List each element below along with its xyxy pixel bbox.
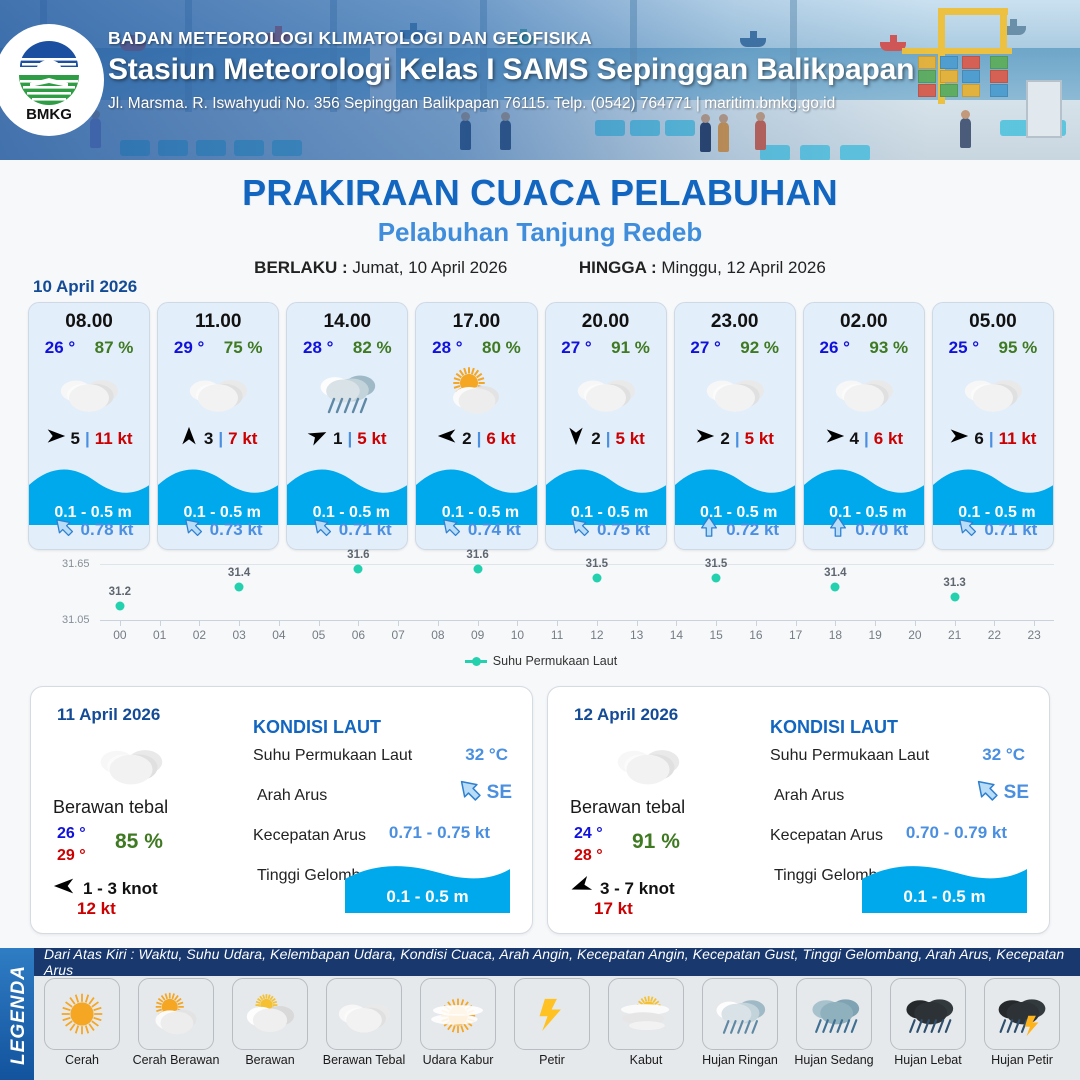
chart-xtick-label: 09 [471, 628, 484, 642]
petir-icon [514, 978, 590, 1050]
chart-xtick [756, 620, 757, 626]
hujan-ringan-icon [702, 978, 778, 1050]
udara-kabur-icon [420, 978, 496, 1050]
chart-xtick [955, 620, 956, 626]
chart-xtick [358, 620, 359, 626]
wind-direction-arrow-icon [949, 426, 969, 451]
legend-item: Hujan Petir [978, 978, 1066, 1078]
chart-ytick-label: 31.65 [62, 558, 90, 570]
current-direction-arrow-icon [182, 516, 204, 543]
valid-until-label: HINGGA : [579, 258, 657, 277]
chart-point-label: 31.6 [466, 549, 488, 561]
wind-speed: 4 [850, 429, 859, 449]
legend-footer: LEGENDA Dari Atas Kiri : Waktu, Suhu Uda… [0, 948, 1080, 1080]
chart-xtick-label: 08 [431, 628, 444, 642]
chart-point-label: 31.2 [109, 586, 131, 598]
hourly-card: 02.0026 °93 %4|6 kt0.1 - 0.5 m0.70 kt [803, 302, 925, 550]
current-speed: 0.70 kt [855, 520, 908, 540]
valid-from-label: BERLAKU : [254, 258, 348, 277]
current-direction-value: SE [1004, 782, 1029, 804]
chart-x-axis [100, 620, 1054, 621]
hujan-sedang-icon [796, 978, 872, 1050]
hourly-card: 20.0027 °91 %2|5 kt0.1 - 0.5 m0.75 kt [545, 302, 667, 550]
separator: | [864, 429, 869, 449]
wave-band: 0.1 - 0.5 m0.74 kt [416, 455, 537, 549]
gust-speed: 5 kt [616, 429, 645, 449]
chart-legend: Suhu Permukaan Laut [28, 654, 1054, 668]
chart-xtick [279, 620, 280, 626]
wind-direction-arrow-icon [695, 426, 715, 451]
chart-xtick-label: 14 [670, 628, 683, 642]
current-direction-value: SE [487, 782, 512, 804]
card-time: 02.00 [804, 311, 924, 333]
legend-item-label: Hujan Ringan [702, 1054, 778, 1068]
hourly-card: 17.0028 °80 %2|6 kt0.1 - 0.5 m0.74 kt [415, 302, 537, 550]
berawan-tebal-icon [83, 733, 179, 791]
chart-xtick [557, 620, 558, 626]
page-header: BMKG BADAN METEOROLOGI KLIMATOLOGI DAN G… [0, 0, 1080, 160]
chart-xtick-label: 06 [352, 628, 365, 642]
separator: | [606, 429, 611, 449]
chart-xtick [398, 620, 399, 626]
current-speed: 0.73 kt [210, 520, 263, 540]
station-name: Stasiun Meteorologi Kelas I SAMS Sepingg… [108, 53, 988, 87]
chart-xtick [796, 620, 797, 626]
legend-item-label: Udara Kabur [423, 1054, 494, 1068]
wave-band: 0.1 - 0.5 m0.71 kt [287, 455, 408, 549]
chart-point [712, 574, 721, 583]
hourly-card: 08.0026 °87 %5|11 kt0.1 - 0.5 m0.78 kt [28, 302, 150, 550]
bmkg-logo-icon: BMKG [10, 37, 88, 123]
card-humidity: 92 % [740, 338, 779, 358]
gust-speed: 11 kt [95, 429, 133, 449]
hourly-card: 05.0025 °95 %6|11 kt0.1 - 0.5 m0.71 kt [932, 302, 1054, 550]
card-temperature: 27 ° [561, 338, 591, 358]
valid-until-value: Minggu, 12 April 2026 [661, 258, 825, 277]
wind-direction-arrow-icon [179, 426, 199, 451]
chart-point [235, 583, 244, 592]
card-humidity: 93 % [869, 338, 908, 358]
wave-band: 0.1 - 0.5 m0.72 kt [675, 455, 796, 549]
daily-forecast-panels: 11 April 2026Berawan tebal26 °29 °85 %1 … [30, 686, 1050, 934]
current-direction-value-group: SE [974, 777, 1029, 808]
current-speed: 0.78 kt [81, 520, 134, 540]
chart-xtick-label: 12 [590, 628, 603, 642]
chart-xtick-label: 01 [153, 628, 166, 642]
daily-humidity: 91 % [632, 830, 680, 854]
wave-band: 0.1 - 0.5 m0.73 kt [158, 455, 279, 549]
gust-speed: 11 kt [999, 429, 1037, 449]
sst-value: 32 °C [982, 745, 1025, 765]
wind-speed: 2 [591, 429, 600, 449]
gust-speed: 7 kt [228, 429, 257, 449]
legend-item: Kabut [602, 978, 690, 1078]
chart-point-label: 31.3 [943, 577, 965, 589]
wind-direction-arrow-icon [566, 426, 586, 451]
card-temperature: 25 ° [949, 338, 979, 358]
chart-point-label: 31.4 [228, 567, 250, 579]
separator: | [989, 429, 994, 449]
chart-xtick-label: 22 [988, 628, 1001, 642]
chart-point [831, 583, 840, 592]
kabut-icon [608, 978, 684, 1050]
separator: | [735, 429, 740, 449]
card-temperature: 27 ° [690, 338, 720, 358]
chart-point [592, 574, 601, 583]
chart-point [950, 592, 959, 601]
chart-point-label: 31.4 [824, 567, 846, 579]
daily-forecast-panel: 12 April 2026Berawan tebal24 °28 °91 %3 … [547, 686, 1050, 934]
legend-item-label: Hujan Petir [991, 1054, 1053, 1068]
cerah-berawan-icon [138, 978, 214, 1050]
legend-item-label: Berawan [245, 1054, 294, 1068]
legend-item: Hujan Lebat [884, 978, 972, 1078]
legend-item: Hujan Ringan [696, 978, 784, 1078]
gust-speed: 5 kt [745, 429, 774, 449]
sst-label: Suhu Permukaan Laut [770, 747, 929, 765]
daily-date: 12 April 2026 [574, 705, 678, 725]
chart-xtick-label: 11 [551, 628, 563, 642]
wind-direction-arrow-icon [53, 875, 75, 902]
wave-band: 0.1 - 0.5 m0.75 kt [546, 455, 667, 549]
hourly-forecast-cards: 08.0026 °87 %5|11 kt0.1 - 0.5 m0.78 kt11… [28, 302, 1054, 550]
current-speed: 0.72 kt [726, 520, 779, 540]
chart-xtick [875, 620, 876, 626]
card-time: 23.00 [675, 311, 795, 333]
daily-wind-speed: 1 - 3 knot [83, 879, 158, 899]
current-direction-label: Arah Arus [774, 787, 844, 805]
chart-xtick-label: 15 [709, 628, 722, 642]
legend-item-label: Berawan Tebal [323, 1054, 405, 1068]
current-speed: 0.75 kt [597, 520, 650, 540]
legend-item: Berawan Tebal [320, 978, 408, 1078]
chart-xtick-label: 03 [232, 628, 245, 642]
chart-point [473, 564, 482, 573]
wave-height-badge: 0.1 - 0.5 m [345, 861, 510, 913]
separator: | [477, 429, 482, 449]
chart-point-label: 31.5 [586, 558, 608, 570]
current-direction-arrow-icon [827, 516, 849, 543]
chart-xtick-label: 13 [630, 628, 643, 642]
chart-xtick [994, 620, 995, 626]
card-humidity: 87 % [95, 338, 134, 358]
header-text-block: BADAN METEOROLOGI KLIMATOLOGI DAN GEOFIS… [108, 28, 988, 113]
cerah-icon [44, 978, 120, 1050]
chart-xtick-label: 17 [789, 628, 802, 642]
card-temperature: 28 ° [432, 338, 462, 358]
current-direction-arrow-icon [457, 777, 483, 808]
chart-xtick-label: 23 [1027, 628, 1040, 642]
current-speed: 0.71 kt [984, 520, 1037, 540]
separator: | [85, 429, 90, 449]
hourly-card: 11.0029 °75 %3|7 kt0.1 - 0.5 m0.73 kt [157, 302, 279, 550]
current-direction-value-group: SE [457, 777, 512, 808]
validity-period: BERLAKU : Jumat, 10 April 2026 HINGGA : … [0, 258, 1080, 278]
card-humidity: 95 % [999, 338, 1038, 358]
sst-value: 32 °C [465, 745, 508, 765]
legend-item: Hujan Sedang [790, 978, 878, 1078]
wind-direction-arrow-icon [825, 426, 845, 451]
card-time: 20.00 [546, 311, 666, 333]
chart-ytick-label: 31.05 [62, 614, 90, 626]
card-temperature: 26 ° [819, 338, 849, 358]
card-time: 17.00 [416, 311, 536, 333]
gust-speed: 5 kt [357, 429, 386, 449]
chart-point-label: 31.5 [705, 558, 727, 570]
sea-conditions-header: KONDISI LAUT [253, 717, 381, 738]
current-direction-arrow-icon [974, 777, 1000, 808]
hourly-day-label: 10 April 2026 [33, 277, 137, 297]
chart-point-label: 31.6 [347, 549, 369, 561]
chart-xtick-label: 18 [829, 628, 842, 642]
wind-direction-arrow-icon [570, 875, 592, 902]
chart-xtick-label: 04 [272, 628, 285, 642]
legend-item-label: Hujan Sedang [794, 1054, 873, 1068]
chart-legend-label: Suhu Permukaan Laut [493, 654, 617, 668]
daily-wind-speed: 3 - 7 knot [600, 879, 675, 899]
chart-xtick-label: 21 [948, 628, 961, 642]
chart-xtick [1034, 620, 1035, 626]
wave-height-badge: 0.1 - 0.5 m [862, 861, 1027, 913]
berawan-tebal-icon [546, 360, 666, 422]
chart-xtick [517, 620, 518, 626]
current-direction-arrow-icon [440, 516, 462, 543]
berawan-tebal-icon [326, 978, 402, 1050]
legend-item: Udara Kabur [414, 978, 502, 1078]
daily-wind: 3 - 7 knot [570, 875, 675, 902]
daily-date: 11 April 2026 [57, 705, 160, 725]
legend-item-label: Cerah Berawan [133, 1054, 220, 1068]
card-humidity: 75 % [224, 338, 263, 358]
current-speed-label: Kecepatan Arus [253, 827, 366, 845]
chart-xtick-label: 20 [908, 628, 921, 642]
gust-speed: 6 kt [486, 429, 515, 449]
card-temperature: 28 ° [303, 338, 333, 358]
title-block: PRAKIRAAN CUACA PELABUHAN Pelabuhan Tanj… [0, 160, 1080, 278]
berawan-tebal-icon [29, 360, 149, 422]
berawan-tebal-icon [158, 360, 278, 422]
legend-item: Petir [508, 978, 596, 1078]
gust-speed: 6 kt [874, 429, 903, 449]
card-time: 11.00 [158, 311, 278, 333]
daily-condition: Berawan tebal [570, 797, 685, 818]
current-direction-label: Arah Arus [257, 787, 327, 805]
daily-temp-min: 24 ° [574, 825, 603, 843]
legend-note: Dari Atas Kiri : Waktu, Suhu Udara, Kele… [34, 948, 1080, 976]
legend-item: Berawan [226, 978, 314, 1078]
chart-xtick-label: 10 [511, 628, 524, 642]
chart-legend-marker-icon [465, 660, 487, 663]
wind-speed: 6 [974, 429, 983, 449]
chart-point [115, 602, 124, 611]
station-address: Jl. Marsma. R. Iswahyudi No. 356 Sepingg… [108, 95, 988, 113]
card-temperature: 29 ° [174, 338, 204, 358]
hujan-ringan-icon [287, 360, 407, 422]
card-time: 14.00 [287, 311, 407, 333]
card-time: 08.00 [29, 311, 149, 333]
wave-height-value: 0.1 - 0.5 m [345, 881, 510, 913]
wind-speed: 2 [462, 429, 471, 449]
wind-speed: 5 [71, 429, 80, 449]
chart-xtick-label: 19 [868, 628, 881, 642]
chart-xtick [199, 620, 200, 626]
daily-temp-max: 29 ° [57, 847, 86, 865]
daily-condition: Berawan tebal [53, 797, 168, 818]
berawan-tebal-icon [804, 360, 924, 422]
chart-xtick [438, 620, 439, 626]
chart-xtick [160, 620, 161, 626]
current-speed-label: Kecepatan Arus [770, 827, 883, 845]
legend-item-label: Cerah [65, 1054, 99, 1068]
berawan-icon [232, 978, 308, 1050]
current-speed-value: 0.71 - 0.75 kt [389, 823, 490, 843]
chart-xtick [676, 620, 677, 626]
sst-label: Suhu Permukaan Laut [253, 747, 412, 765]
separator: | [348, 429, 353, 449]
chart-xtick-label: 00 [113, 628, 126, 642]
chart-xtick-label: 02 [193, 628, 206, 642]
daily-forecast-panel: 11 April 2026Berawan tebal26 °29 °85 %1 … [30, 686, 533, 934]
chart-xtick-label: 07 [391, 628, 404, 642]
separator: | [218, 429, 223, 449]
chart-xtick [716, 620, 717, 626]
legend-item-label: Kabut [630, 1054, 663, 1068]
daily-gust: 17 kt [594, 899, 633, 919]
daily-temp-min: 26 ° [57, 825, 86, 843]
daily-temp-max: 28 ° [574, 847, 603, 865]
daily-wind: 1 - 3 knot [53, 875, 158, 902]
sst-chart: 31.6531.05000102030405060708091011121314… [28, 556, 1054, 678]
legend-item: Cerah Berawan [132, 978, 220, 1078]
wave-band: 0.1 - 0.5 m0.78 kt [29, 455, 150, 549]
current-speed: 0.74 kt [468, 520, 521, 540]
daily-humidity: 85 % [115, 830, 163, 854]
legend-item-label: Hujan Lebat [894, 1054, 961, 1068]
wave-band: 0.1 - 0.5 m0.70 kt [804, 455, 925, 549]
current-direction-arrow-icon [956, 516, 978, 543]
current-direction-arrow-icon [569, 516, 591, 543]
daily-gust: 12 kt [77, 899, 116, 919]
hourly-card: 14.0028 °82 %1|5 kt0.1 - 0.5 m0.71 kt [286, 302, 408, 550]
legend-item: Cerah [38, 978, 126, 1078]
berawan-tebal-icon [933, 360, 1053, 422]
wind-speed: 1 [333, 429, 342, 449]
current-speed-value: 0.70 - 0.79 kt [906, 823, 1007, 843]
wave-band: 0.1 - 0.5 m0.71 kt [933, 455, 1054, 549]
wind-speed: 2 [720, 429, 729, 449]
hourly-card: 23.0027 °92 %2|5 kt0.1 - 0.5 m0.72 kt [674, 302, 796, 550]
card-humidity: 82 % [353, 338, 392, 358]
wind-direction-arrow-icon [308, 426, 328, 451]
legend-tab: LEGENDA [0, 948, 34, 1080]
wind-direction-arrow-icon [437, 426, 457, 451]
card-humidity: 80 % [482, 338, 521, 358]
legend-tab-label: LEGENDA [8, 956, 30, 1074]
wave-height-value: 0.1 - 0.5 m [862, 881, 1027, 913]
current-direction-arrow-icon [311, 516, 333, 543]
current-direction-arrow-icon [698, 516, 720, 543]
wind-direction-arrow-icon [46, 426, 66, 451]
legend-item-label: Petir [539, 1054, 565, 1068]
sea-conditions-header: KONDISI LAUT [770, 717, 898, 738]
chart-gridline [100, 564, 1054, 565]
berawan-tebal-icon [600, 733, 696, 791]
cerah-berawan-icon [416, 360, 536, 422]
current-direction-arrow-icon [53, 516, 75, 543]
chart-xtick-label: 05 [312, 628, 325, 642]
agency-name: BADAN METEOROLOGI KLIMATOLOGI DAN GEOFIS… [108, 28, 988, 49]
chart-xtick-label: 16 [749, 628, 762, 642]
chart-point [354, 564, 363, 573]
chart-xtick [478, 620, 479, 626]
card-temperature: 26 ° [45, 338, 75, 358]
card-humidity: 91 % [611, 338, 650, 358]
chart-xtick [319, 620, 320, 626]
wind-speed: 3 [204, 429, 213, 449]
port-name: Pelabuhan Tanjung Redeb [0, 217, 1080, 248]
chart-xtick [915, 620, 916, 626]
chart-xtick [239, 620, 240, 626]
card-time: 05.00 [933, 311, 1053, 333]
svg-text:BMKG: BMKG [26, 106, 72, 123]
hujan-lebat-icon [890, 978, 966, 1050]
berawan-tebal-icon [675, 360, 795, 422]
hujan-petir-icon [984, 978, 1060, 1050]
current-speed: 0.71 kt [339, 520, 392, 540]
chart-xtick [835, 620, 836, 626]
chart-xtick [597, 620, 598, 626]
legend-items: CerahCerah BerawanBerawanBerawan TebalUd… [34, 978, 1080, 1078]
valid-from-value: Jumat, 10 April 2026 [352, 258, 507, 277]
chart-xtick [637, 620, 638, 626]
chart-xtick [120, 620, 121, 626]
page-title: PRAKIRAAN CUACA PELABUHAN [0, 172, 1080, 214]
